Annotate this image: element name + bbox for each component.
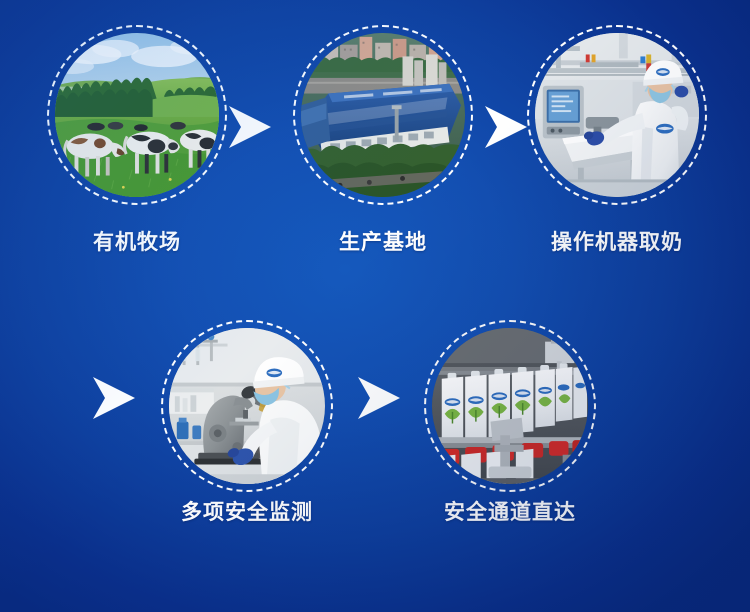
arrow-step2-to-step3: [484, 104, 528, 150]
step-5-circle-frame: [424, 320, 596, 492]
step-3-circle-frame: [527, 25, 707, 205]
organic-pasture-cows-photo: [55, 33, 219, 197]
safe-channel-packaging-line-photo: [432, 328, 588, 484]
safety-inspection-microscope-photo: [169, 328, 325, 484]
step-2-label: 生产基地: [293, 232, 473, 253]
step-4-node[interactable]: [161, 320, 333, 492]
step-5-node[interactable]: [424, 320, 596, 492]
step-1-node[interactable]: [47, 25, 227, 205]
step-3-node[interactable]: [527, 25, 707, 205]
step-1-label: 有机牧场: [47, 232, 227, 253]
flow-diagram-canvas: 有机牧场: [0, 0, 750, 612]
step-2-node[interactable]: [293, 25, 473, 205]
step-2-circle-frame: [293, 25, 473, 205]
arrow-step1-to-step2: [228, 104, 272, 150]
arrow-step3-to-step4: [92, 375, 136, 421]
arrow-step4-to-step5: [357, 375, 401, 421]
step-1-circle-frame: [47, 25, 227, 205]
step-5-label: 安全通道直达: [420, 502, 600, 523]
production-base-factory-photo: [301, 33, 465, 197]
step-4-circle-frame: [161, 320, 333, 492]
step-4-label: 多项安全监测: [157, 502, 337, 523]
step-3-label: 操作机器取奶: [527, 232, 707, 253]
operator-machine-milking-photo: [535, 33, 699, 197]
